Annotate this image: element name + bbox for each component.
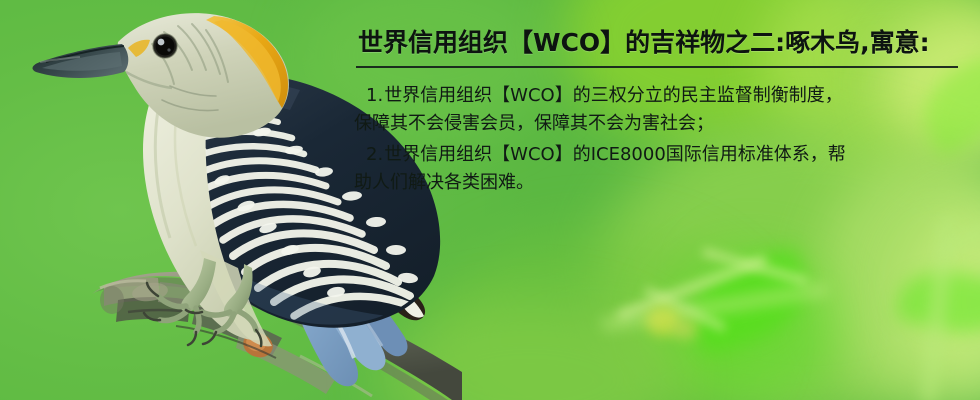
list-item-number: 2. <box>366 144 383 165</box>
list-item-line2: 保障其不会侵害会员，保障其不会为害社会； <box>354 110 952 138</box>
list-item-line2: 助人们解决各类困难。 <box>354 169 952 197</box>
text-panel: 世界信用组织【WCO】的吉祥物之二:啄木鸟,寓意: 1.世界信用组织【WCO】的… <box>352 24 972 200</box>
blurred-bud <box>672 318 698 340</box>
title-divider <box>356 66 958 68</box>
list-item-line1: 世界信用组织【WCO】的ICE8000国际信用标准体系，帮 <box>384 144 846 165</box>
title-row: 世界信用组织【WCO】的吉祥物之二:啄木鸟,寓意: <box>352 24 972 62</box>
wco-mascot-banner: 世界信用组织【WCO】的吉祥物之二:啄木鸟,寓意: 1.世界信用组织【WCO】的… <box>0 0 980 400</box>
banner-title: 世界信用组织【WCO】的吉祥物之二:啄木鸟,寓意: <box>352 24 972 62</box>
meaning-list: 1.世界信用组织【WCO】的三权分立的民主监督制衡制度， 保障其不会侵害会员，保… <box>352 82 972 197</box>
list-item-line1: 世界信用组织【WCO】的三权分立的民主监督制衡制度， <box>384 85 843 106</box>
list-item-number: 1. <box>366 85 383 106</box>
list-item: 2.世界信用组织【WCO】的ICE8000国际信用标准体系，帮 助人们解决各类困… <box>352 141 952 197</box>
list-item: 1.世界信用组织【WCO】的三权分立的民主监督制衡制度， 保障其不会侵害会员，保… <box>352 82 952 138</box>
